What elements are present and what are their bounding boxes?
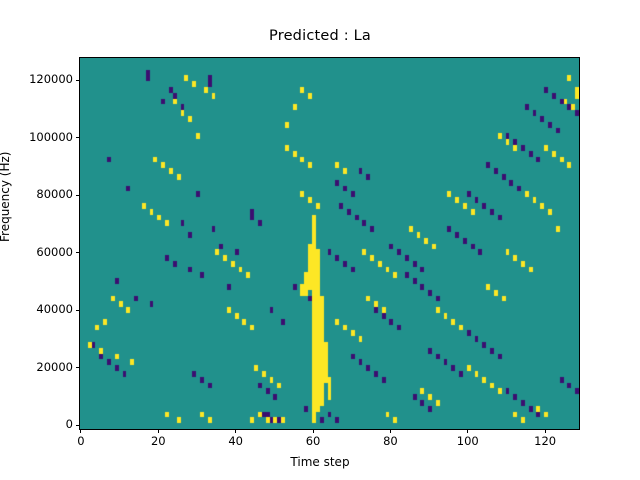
matplotlib-figure: Predicted : La Frequency (Hz) Time step …: [0, 0, 640, 480]
x-tick-label: 100: [457, 434, 479, 448]
chart-title: Predicted : La: [0, 28, 640, 44]
y-tick-label: 20000: [36, 360, 73, 374]
x-axis-label: Time step: [0, 455, 640, 469]
y-tick-label: 0: [66, 417, 73, 431]
y-tick-label: 60000: [36, 245, 73, 259]
y-tick-label: 40000: [36, 302, 73, 316]
heatmap-canvas: [80, 58, 579, 429]
x-tick-label: 40: [228, 434, 243, 448]
y-tick-label: 100000: [29, 130, 73, 144]
y-tick-label: 80000: [36, 187, 73, 201]
x-tick-label: 20: [151, 434, 166, 448]
x-tick-label: 60: [306, 434, 321, 448]
x-tick-label: 120: [534, 434, 556, 448]
x-tick-label: 0: [77, 434, 84, 448]
heatmap-axes: [79, 57, 580, 430]
y-axis-label: Frequency (Hz): [0, 152, 12, 243]
x-tick-label: 80: [383, 434, 398, 448]
y-tick-label: 120000: [29, 72, 73, 86]
